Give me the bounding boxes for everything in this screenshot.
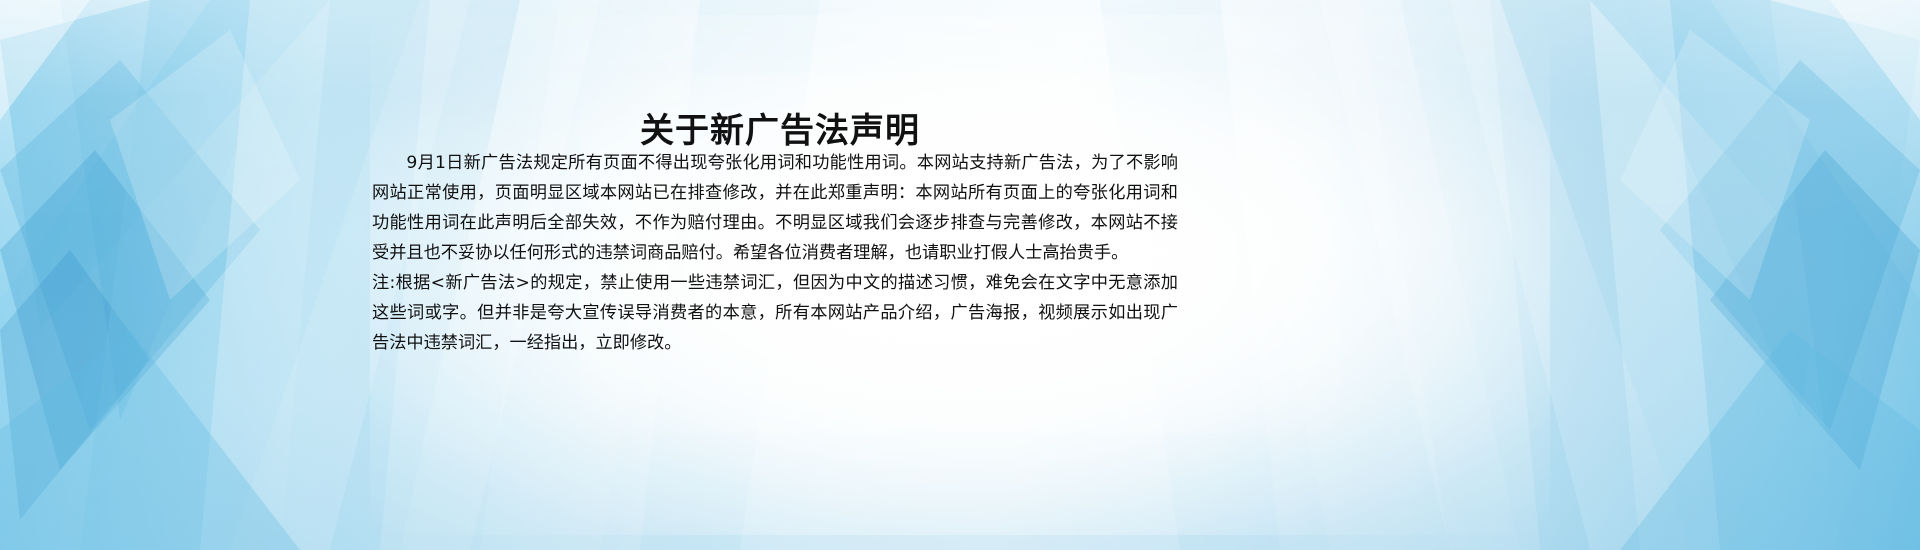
note-paragraph: 注:根据<新广告法>的规定，禁止使用一些违禁词汇，但因为中文的描述习惯，难免会在… [372, 268, 1178, 358]
content-layer: 关于新广告法声明 9月1日新广告法规定所有页面不得出现夸张化用词和功能性用词。本… [0, 0, 1920, 550]
ad-law-statement-banner: 关于新广告法声明 9月1日新广告法规定所有页面不得出现夸张化用词和功能性用词。本… [0, 0, 1920, 550]
page-title: 关于新广告法声明 [0, 111, 1560, 152]
statement-body: 9月1日新广告法规定所有页面不得出现夸张化用词和功能性用词。本网站支持新广告法，… [372, 148, 1178, 358]
statement-paragraph: 9月1日新广告法规定所有页面不得出现夸张化用词和功能性用词。本网站支持新广告法，… [372, 148, 1178, 268]
